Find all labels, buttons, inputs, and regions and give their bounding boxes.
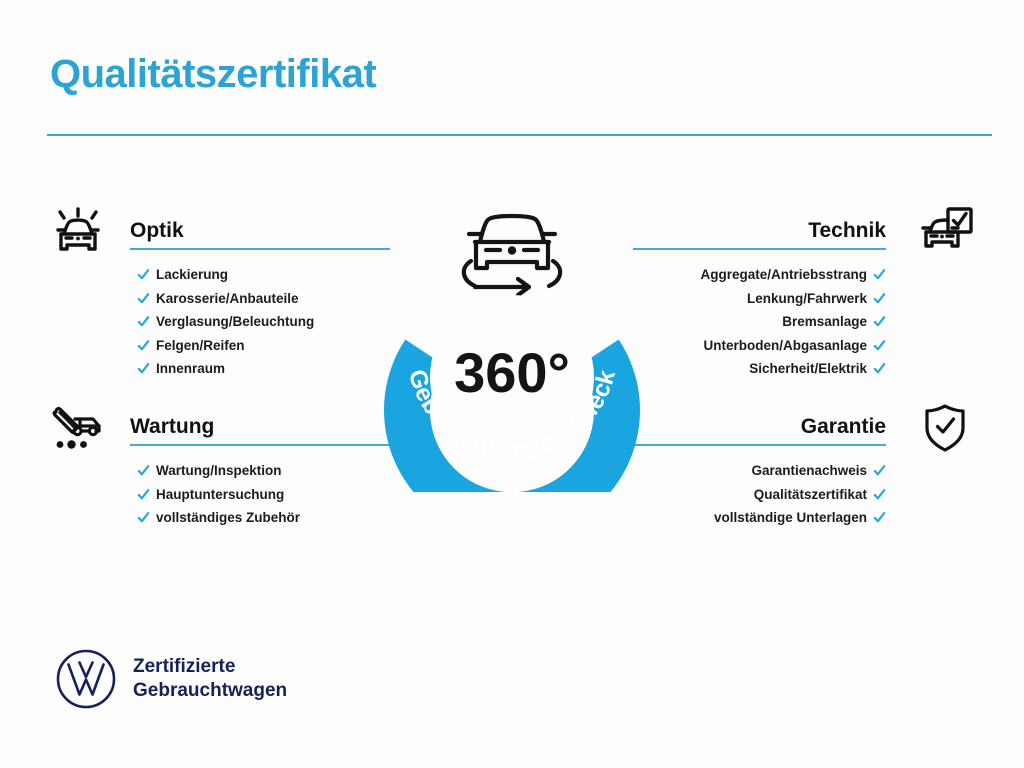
- check-icon: [137, 292, 150, 305]
- check-icon: [137, 339, 150, 352]
- section-divider: [633, 248, 886, 250]
- check-icon: [873, 292, 886, 305]
- optik-list: Lackierung Karosserie/Anbauteile Verglas…: [45, 250, 390, 376]
- garantie-heading: Garantie: [633, 400, 978, 446]
- vw-certified-label: Zertifizierte Gebrauchtwagen: [133, 655, 287, 704]
- section-title: Technik: [808, 219, 886, 243]
- list-item-label: vollständige Unterlagen: [714, 511, 867, 525]
- section-divider: [130, 248, 390, 250]
- check-icon: [137, 464, 150, 477]
- section-title: Garantie: [801, 415, 886, 439]
- list-item: Hauptuntersuchung: [137, 488, 390, 502]
- list-item-label: Innenraum: [156, 362, 225, 376]
- list-item: Verglasung/Beleuchtung: [137, 315, 390, 329]
- technik-heading: Technik: [633, 204, 978, 250]
- car-rotate-icon: [464, 216, 560, 295]
- check-icon: [137, 362, 150, 375]
- list-item-label: Bremsanlage: [782, 315, 867, 329]
- list-item-label: Qualitätszertifikat: [754, 488, 867, 502]
- list-item-label: Lackierung: [156, 268, 228, 282]
- list-item-label: Lenkung/Fahrwerk: [747, 292, 867, 306]
- list-item: Unterboden/Abgasanlage: [703, 339, 886, 353]
- check-icon: [873, 511, 886, 524]
- list-item-label: Unterboden/Abgasanlage: [703, 339, 867, 353]
- section-divider: [633, 444, 886, 446]
- check-icon: [137, 488, 150, 501]
- technik-list: Aggregate/Antriebsstrang Lenkung/Fahrwer…: [633, 250, 978, 386]
- list-item: Lenkung/Fahrwerk: [747, 292, 886, 306]
- section-wartung: Wartung Wartung/Inspektion Hauptuntersuc…: [45, 400, 390, 535]
- list-item-label: Karosserie/Anbauteile: [156, 292, 299, 306]
- section-divider: [130, 444, 390, 446]
- check-icon: [873, 488, 886, 501]
- list-item: vollständige Unterlagen: [714, 511, 886, 525]
- list-item-label: Verglasung/Beleuchtung: [156, 315, 314, 329]
- section-optik: Optik Lackierung Karosserie/Anbauteile: [45, 204, 390, 386]
- 360-check-badge: 360° Gebrauchtwagen-Check: [372, 192, 652, 492]
- section-title: Optik: [130, 219, 184, 243]
- list-item: Felgen/Reifen: [137, 339, 390, 353]
- list-item: Innenraum: [137, 362, 390, 376]
- list-item: Sicherheit/Elektrik: [749, 362, 886, 376]
- list-item: Wartung/Inspektion: [137, 464, 390, 478]
- title-divider: [47, 134, 992, 136]
- list-item: Qualitätszertifikat: [754, 488, 886, 502]
- section-title: Wartung: [130, 415, 214, 439]
- page-title: Qualitätszertifikat: [50, 54, 376, 94]
- optik-heading: Optik: [45, 204, 390, 250]
- list-item-label: Hauptuntersuchung: [156, 488, 284, 502]
- list-item: Lackierung: [137, 268, 390, 282]
- list-item-label: vollständiges Zubehör: [156, 511, 300, 525]
- list-item-label: Garantienachweis: [751, 464, 867, 478]
- vw-certified-footer: Zertifizierte Gebrauchtwagen: [55, 648, 287, 710]
- list-item: Garantienachweis: [751, 464, 886, 478]
- check-icon: [873, 464, 886, 477]
- check-icon: [873, 315, 886, 328]
- certificate-page: Qualitätszertifikat: [0, 0, 1024, 768]
- check-icon: [873, 339, 886, 352]
- list-item-label: Sicherheit/Elektrik: [749, 362, 867, 376]
- list-item-label: Felgen/Reifen: [156, 339, 245, 353]
- check-icon: [137, 315, 150, 328]
- vw-logo-icon: [55, 648, 117, 710]
- check-icon: [137, 268, 150, 281]
- check-icon: [873, 362, 886, 375]
- badge-center-label: 360°: [454, 341, 570, 404]
- list-item: Karosserie/Anbauteile: [137, 292, 390, 306]
- garantie-list: Garantienachweis Qualitätszertifikat vol…: [633, 446, 978, 535]
- list-item: Aggregate/Antriebsstrang: [700, 268, 886, 282]
- section-garantie: Garantie Garantienachweis Qualitätszerti…: [633, 400, 978, 535]
- section-technik: Technik Aggregate/Antriebsstrang Lenkung…: [633, 204, 978, 386]
- list-item: vollständiges Zubehör: [137, 511, 390, 525]
- list-item-label: Wartung/Inspektion: [156, 464, 282, 478]
- list-item: Bremsanlage: [782, 315, 886, 329]
- wartung-list: Wartung/Inspektion Hauptuntersuchung vol…: [45, 446, 390, 525]
- check-icon: [137, 511, 150, 524]
- wartung-heading: Wartung: [45, 400, 390, 446]
- list-item-label: Aggregate/Antriebsstrang: [700, 268, 867, 282]
- check-icon: [873, 268, 886, 281]
